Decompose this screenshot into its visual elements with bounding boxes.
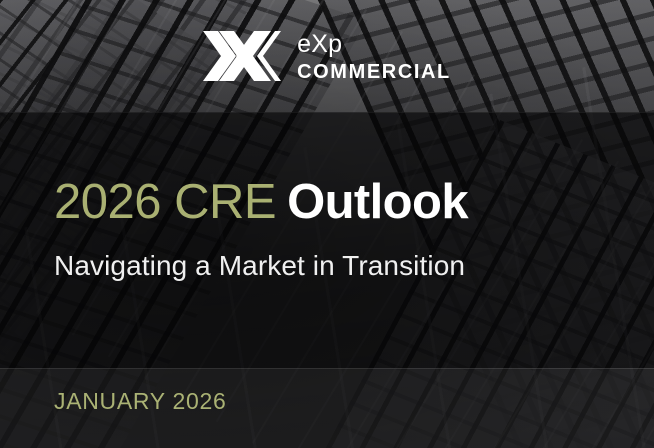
publication-date: JANUARY 2026 — [54, 390, 226, 413]
title-slide: eXp COMMERCIAL 2026 CREOutlook Navigatin… — [0, 0, 654, 448]
page-title: 2026 CREOutlook — [54, 178, 468, 227]
page-title-strong: Outlook — [287, 175, 468, 229]
title-content: 2026 CREOutlook Navigating a Market in T… — [54, 0, 614, 448]
page-subtitle: Navigating a Market in Transition — [54, 252, 465, 280]
page-title-accent: 2026 CRE — [54, 175, 276, 229]
